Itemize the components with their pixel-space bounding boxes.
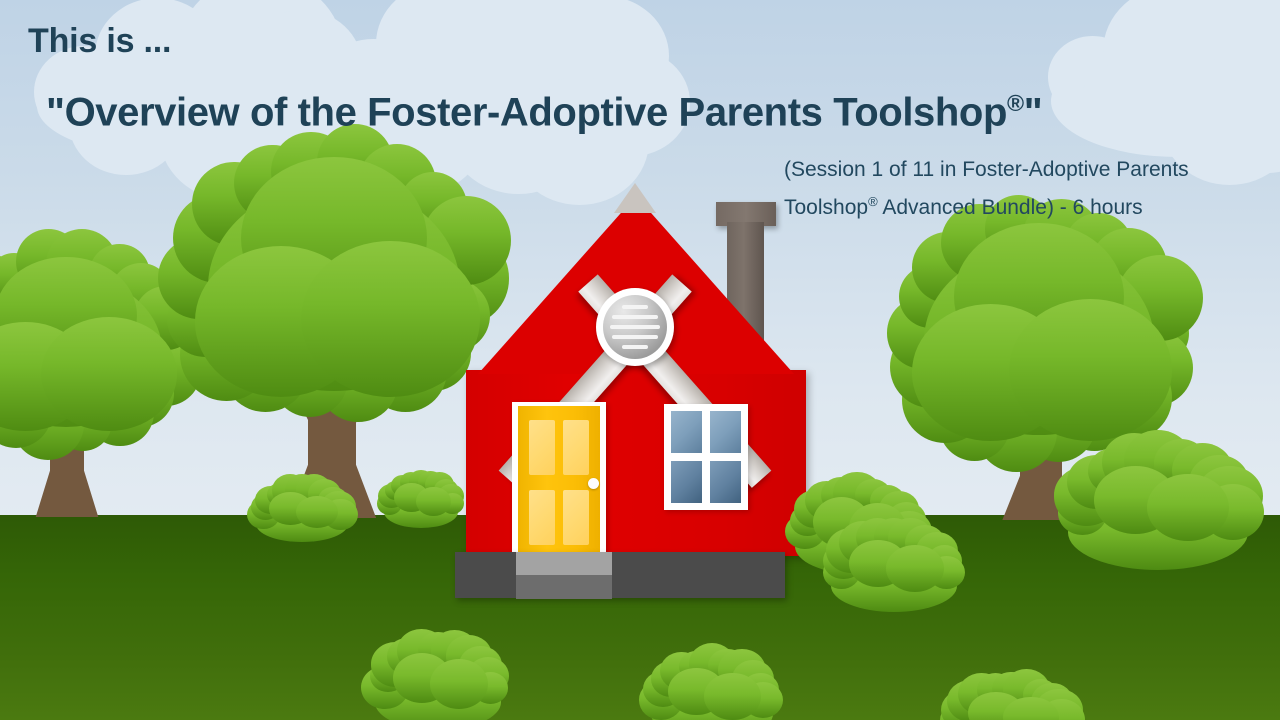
attic-vent-louvers	[603, 295, 667, 359]
window-pane	[710, 411, 741, 453]
slide-subtitle: (Session 1 of 11 in Foster-Adoptive Pare…	[784, 154, 1262, 224]
door-panel	[563, 490, 589, 545]
bush-right-of-center-tree	[382, 472, 460, 528]
window-pane	[671, 411, 702, 453]
window-pane	[671, 461, 702, 503]
shape-lobe	[416, 487, 450, 516]
door-panel	[529, 420, 555, 475]
vent-louver	[622, 345, 648, 349]
bush-right-lower	[948, 676, 1074, 720]
front-window	[664, 404, 748, 510]
bush-path-right	[648, 650, 776, 720]
door-panel	[563, 420, 589, 475]
bush-far-right	[1064, 440, 1252, 570]
shape-lobe	[886, 545, 944, 592]
vent-louver	[622, 305, 648, 309]
window-pane	[710, 461, 741, 503]
door-panel	[529, 490, 555, 545]
slide-title: "Overview of the Foster-Adoptive Parents…	[46, 90, 1042, 135]
vent-louver	[612, 315, 658, 319]
bush-left-of-center-tree	[254, 480, 350, 542]
door-knob-icon[interactable]	[588, 478, 599, 489]
shape-lobe	[430, 659, 488, 709]
vent-louver	[610, 325, 660, 329]
bush-path-left	[372, 634, 504, 720]
vent-louver	[612, 335, 658, 339]
registered-mark-title: ®	[1007, 90, 1024, 116]
attic-vent-icon	[596, 288, 674, 366]
intro-label: This is ...	[28, 22, 171, 61]
slide-title-suffix: "	[1024, 90, 1043, 134]
shape-lobe	[704, 673, 760, 720]
slide-title-prefix: "Overview of the Foster-Adoptive Parents…	[46, 90, 1007, 134]
bush-house-right-front	[828, 522, 960, 612]
registered-mark-subtitle: ®	[868, 194, 878, 209]
slide-subtitle-part2: Advanced Bundle) - 6 hours	[878, 196, 1143, 219]
slide-canvas: This is ... "Overview of the Foster-Adop…	[0, 0, 1280, 720]
